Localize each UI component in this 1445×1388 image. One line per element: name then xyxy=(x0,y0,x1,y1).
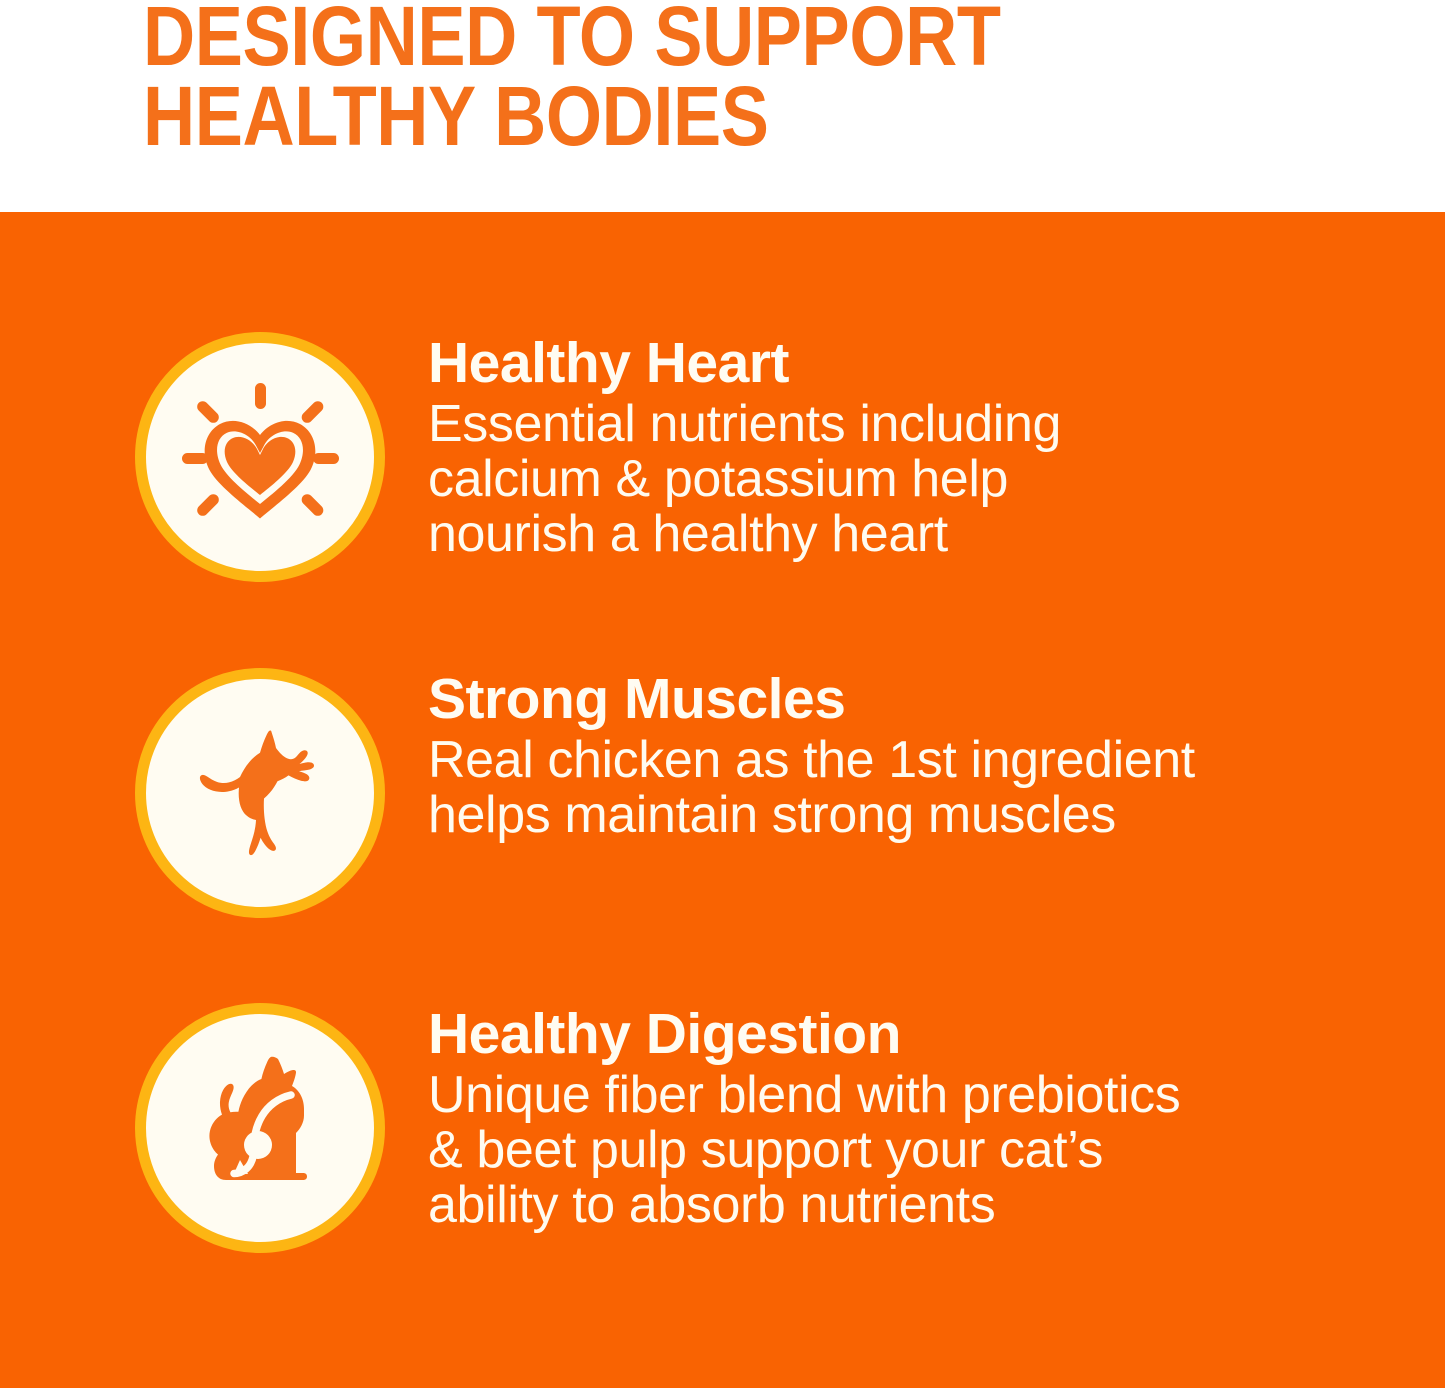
benefit-row: Strong Muscles Real chicken as the 1st i… xyxy=(0,668,1445,918)
benefit-body: Unique fiber blend with prebiotics & bee… xyxy=(428,1068,1405,1233)
benefit-text-column: Healthy Digestion Unique fiber blend wit… xyxy=(428,1003,1445,1233)
benefit-icon-wrapper xyxy=(135,1003,385,1253)
benefit-title: Strong Muscles xyxy=(428,668,1405,730)
benefit-body: Essential nutrients including calcium & … xyxy=(428,397,1405,562)
benefit-icon-wrapper xyxy=(135,332,385,582)
benefit-title: Healthy Digestion xyxy=(428,1003,1405,1065)
leaping-cat-icon xyxy=(135,668,385,918)
benefit-text-column: Strong Muscles Real chicken as the 1st i… xyxy=(428,668,1445,843)
header-band: DESIGNED TO SUPPORT HEALTHY BODIES xyxy=(0,0,1445,212)
page-title: DESIGNED TO SUPPORT HEALTHY BODIES xyxy=(143,0,1132,156)
benefit-text-column: Healthy Heart Essential nutrients includ… xyxy=(428,332,1445,562)
benefit-title: Healthy Heart xyxy=(428,332,1405,394)
heart-with-rays-icon xyxy=(135,332,385,582)
sitting-cat-digestion-icon xyxy=(135,1003,385,1253)
benefit-row: Healthy Heart Essential nutrients includ… xyxy=(0,332,1445,582)
benefit-icon-wrapper xyxy=(135,668,385,918)
benefit-body: Real chicken as the 1st ingredient helps… xyxy=(428,733,1405,843)
benefit-row: Healthy Digestion Unique fiber blend wit… xyxy=(0,1003,1445,1253)
